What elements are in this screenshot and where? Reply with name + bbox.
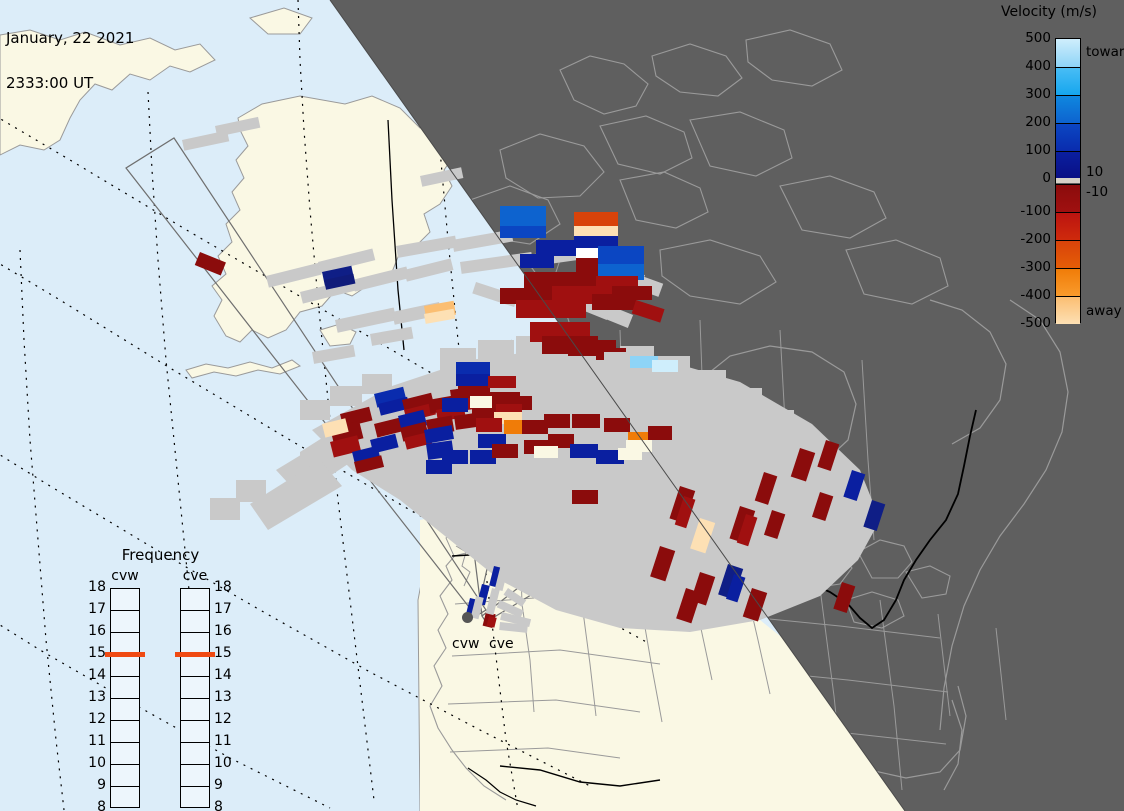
colorbar-segment — [1056, 151, 1080, 179]
frequency-cell — [181, 589, 209, 611]
frequency-cell — [181, 677, 209, 699]
velocity-cell — [574, 212, 618, 228]
colorbar-segment — [1056, 268, 1080, 296]
colorbar-segment — [1056, 67, 1080, 95]
frequency-cell — [111, 699, 139, 721]
frequency-bar — [180, 588, 210, 808]
velocity-cell — [500, 206, 546, 228]
frequency-tick: 12 — [214, 714, 240, 724]
frequency-tick: 8 — [80, 802, 106, 811]
velocity-cell — [442, 398, 468, 412]
frequency-tick: 13 — [214, 692, 240, 702]
frequency-column-cve: cve18171615141312111098 — [166, 568, 224, 584]
frequency-cell — [111, 765, 139, 787]
title-date: January, 22 2021 — [6, 31, 134, 46]
colorbar-tick: -400 — [979, 287, 1051, 303]
colorbar-tick: 100 — [979, 142, 1051, 158]
frequency-tick: 12 — [80, 714, 106, 724]
frequency-cell — [111, 655, 139, 677]
velocity-cell — [488, 376, 516, 388]
colorbar-negative-threshold-label: -10 — [1086, 184, 1108, 200]
radar-map-figure: January, 22 2021 2333:00 UT Velocity (m/… — [0, 0, 1124, 811]
timestamp-title: January, 22 2021 2333:00 UT — [6, 1, 134, 121]
colorbar-segment — [1056, 240, 1080, 268]
frequency-column-cvw: cvw18171615141312111098 — [96, 568, 154, 584]
frequency-tick: 11 — [214, 736, 240, 746]
colorbar-tick: 300 — [979, 86, 1051, 102]
frequency-tick: 9 — [214, 780, 240, 790]
velocity-cell — [500, 226, 546, 238]
velocity-cell — [598, 246, 644, 266]
frequency-cell — [111, 677, 139, 699]
colorbar-toward-label: toward — [1086, 44, 1124, 60]
colorbar-segment — [1056, 123, 1080, 151]
velocity-cell — [426, 460, 452, 474]
frequency-marker — [105, 652, 145, 657]
velocity-cell — [604, 418, 630, 432]
frequency-tick: 8 — [214, 802, 240, 811]
frequency-tick: 16 — [80, 626, 106, 636]
colorbar-tick: -200 — [979, 231, 1051, 247]
frequency-tick: 18 — [214, 582, 240, 592]
colorbar-segment — [1056, 95, 1080, 123]
velocity-cell — [492, 444, 518, 458]
frequency-cell — [111, 743, 139, 765]
colorbar-segment — [1056, 184, 1080, 212]
velocity-cell — [648, 426, 672, 440]
colorbar-tick: 200 — [979, 114, 1051, 130]
colorbar-tick: 400 — [979, 58, 1051, 74]
colorbar-tick: -500 — [979, 315, 1051, 331]
station-label-cve: cve — [489, 636, 514, 652]
velocity-cell — [572, 414, 600, 428]
station-label-cvw: cvw — [452, 636, 479, 652]
frequency-tick: 14 — [214, 670, 240, 680]
frequency-cell — [181, 787, 209, 809]
colorbar-segment — [1056, 212, 1080, 240]
colorbar-away-label: away — [1086, 303, 1122, 319]
frequency-tick: 13 — [80, 692, 106, 702]
frequency-cell — [181, 655, 209, 677]
colorbar-zero-band — [1055, 178, 1081, 183]
frequency-cell — [111, 589, 139, 611]
frequency-tick: 18 — [80, 582, 106, 592]
colorbar-segment — [1056, 39, 1080, 67]
velocity-colorbar: Velocity (m/s) 5004003002001000-100-200-… — [975, 0, 1124, 340]
velocity-cell — [544, 414, 570, 428]
title-time: 2333:00 UT — [6, 76, 134, 91]
velocity-cell — [534, 446, 558, 458]
frequency-cell — [181, 765, 209, 787]
frequency-tick: 10 — [214, 758, 240, 768]
velocity-cell — [572, 490, 598, 504]
radar-site-marker — [462, 612, 473, 623]
velocity-cell — [476, 418, 502, 432]
colorbar-segment — [1056, 296, 1080, 324]
frequency-cell — [111, 787, 139, 809]
colorbar-tick: 0 — [979, 170, 1051, 186]
frequency-tick: 15 — [214, 648, 240, 658]
frequency-cell — [181, 699, 209, 721]
frequency-tick: 16 — [214, 626, 240, 636]
frequency-tick: 17 — [214, 604, 240, 614]
frequency-bar — [110, 588, 140, 808]
velocity-cell — [618, 448, 642, 460]
velocity-cell — [520, 254, 554, 268]
frequency-cell — [111, 721, 139, 743]
colorbar-positive-threshold-label: 10 — [1086, 164, 1103, 180]
colorbar-tick: -100 — [979, 203, 1051, 219]
velocity-cell — [536, 240, 580, 256]
velocity-cell — [456, 374, 490, 386]
frequency-legend: Frequency cvw18171615141312111098cve1817… — [88, 546, 233, 796]
frequency-cell — [181, 611, 209, 633]
velocity-cell — [604, 352, 632, 364]
velocity-cell — [652, 360, 678, 372]
velocity-cell — [612, 286, 652, 300]
colorbar-tick: -300 — [979, 259, 1051, 275]
frequency-cell — [111, 611, 139, 633]
frequency-tick: 15 — [80, 648, 106, 658]
colorbar-title: Velocity (m/s) — [979, 4, 1119, 20]
colorbar-tick: 500 — [979, 30, 1051, 46]
velocity-cell — [470, 396, 492, 408]
frequency-tick: 14 — [80, 670, 106, 680]
frequency-cell — [181, 743, 209, 765]
frequency-legend-title: Frequency — [88, 546, 233, 564]
frequency-tick: 17 — [80, 604, 106, 614]
velocity-cell — [570, 444, 598, 458]
frequency-cell — [181, 721, 209, 743]
frequency-tick: 10 — [80, 758, 106, 768]
frequency-tick: 9 — [80, 780, 106, 790]
frequency-marker — [175, 652, 215, 657]
frequency-tick: 11 — [80, 736, 106, 746]
